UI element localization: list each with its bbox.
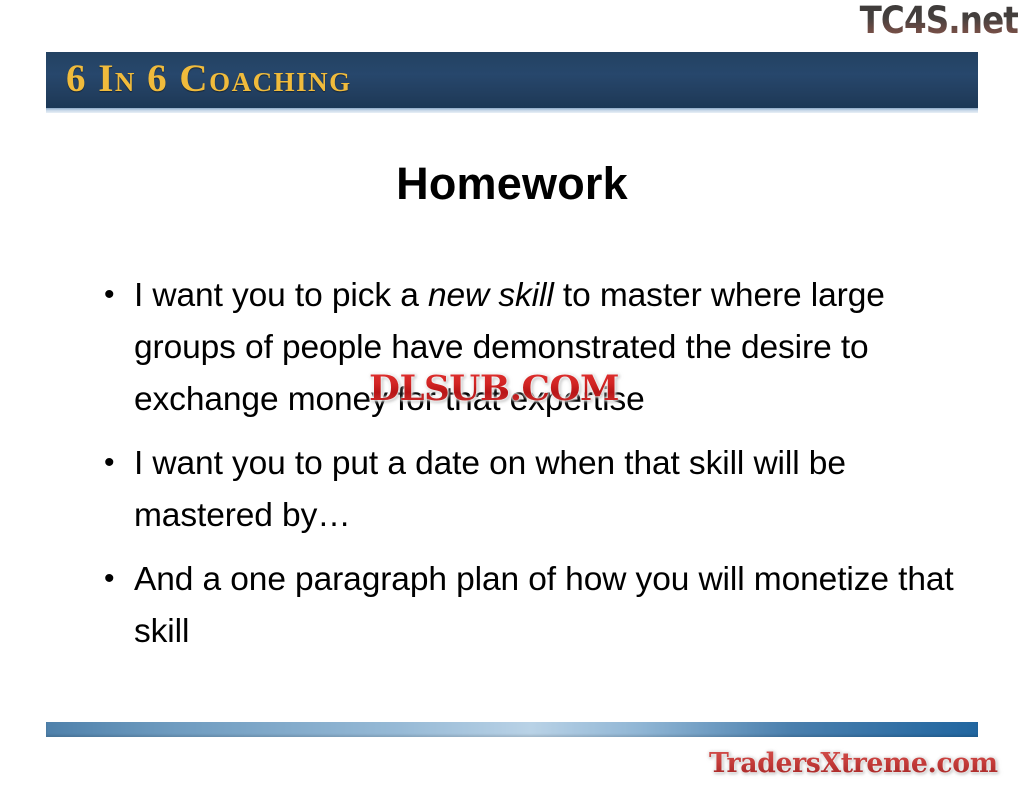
- tc4s-watermark: TC4S.net: [860, 1, 1018, 41]
- dlsub-watermark: DLSUB.COM: [369, 369, 619, 409]
- footer-bar: [46, 722, 978, 737]
- tradersxtreme-watermark: TradersXtreme.com: [709, 748, 998, 780]
- bullet-item-2: I want you to put a date on when that sk…: [100, 438, 960, 542]
- slide-canvas: TC4S.net 6 In 6 Coaching Homework I want…: [0, 0, 1024, 791]
- bullet-text-prefix-3: And a one paragraph plan of how you will…: [134, 561, 954, 650]
- bullet-list: I want you to pick a new skill to master…: [100, 270, 960, 670]
- bullet-text-emphasis-1: new skill: [428, 277, 554, 314]
- bullet-text-prefix-1: I want you to pick a: [134, 277, 428, 314]
- bullet-text-prefix-2: I want you to put a date on when that sk…: [134, 445, 846, 534]
- page-title: Homework: [0, 157, 1024, 211]
- banner-title: 6 In 6 Coaching: [66, 58, 352, 100]
- banner-underline: [46, 108, 978, 113]
- header-banner: 6 In 6 Coaching: [46, 52, 978, 108]
- bullet-item-3: And a one paragraph plan of how you will…: [100, 554, 960, 658]
